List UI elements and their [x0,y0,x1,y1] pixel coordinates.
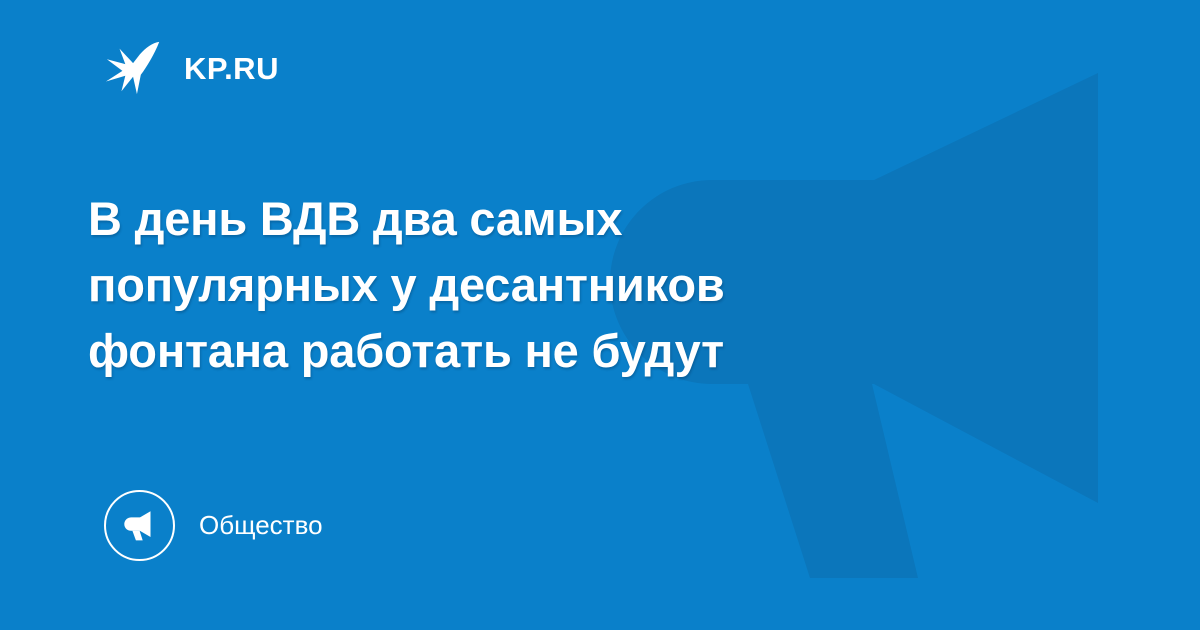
megaphone-icon [122,507,157,543]
headline-line-3: фонтана работать не будут [88,318,948,384]
category-icon-circle [104,490,175,561]
swallow-bird-logo-icon [104,36,166,98]
category-badge-group[interactable]: Общество [104,489,323,561]
share-card: KP.RU В день ВДВ два самых популярных у … [0,0,1200,630]
headline-line-1: В день ВДВ два самых [88,186,948,252]
site-logo[interactable]: KP.RU [104,34,279,100]
page-title: В день ВДВ два самых популярных у десант… [88,186,948,384]
site-wordmark: KP.RU [184,51,279,84]
headline-line-2: популярных у десантников [88,252,948,318]
category-label: Общество [199,512,323,538]
